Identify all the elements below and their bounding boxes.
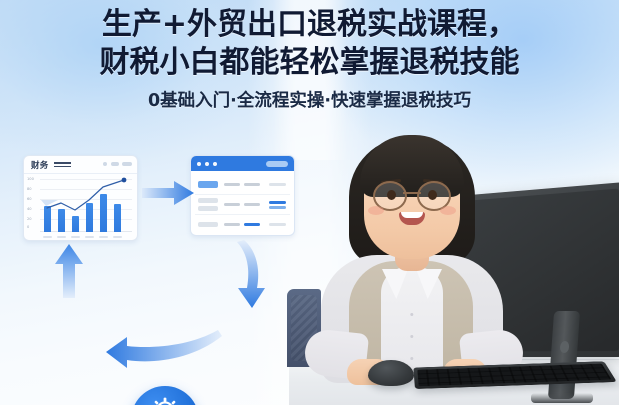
photo-scene [289, 92, 619, 405]
cheek-right [440, 206, 456, 215]
chart-card-header: 财务 [24, 156, 137, 174]
person-illustration [307, 98, 517, 383]
headline-line-1: 生产+外贸出口退税实战课程， [0, 8, 619, 42]
center-node-export-order[interactable]: 出口单 [131, 386, 199, 405]
arrow-up-icon [52, 242, 86, 300]
table-body [191, 171, 294, 235]
infographic: 财务 100 80 60 40 20 0 [0, 142, 318, 405]
chart-card: 财务 100 80 60 40 20 0 [23, 155, 138, 241]
shirt-button [410, 357, 413, 360]
equals-lines-icon [54, 162, 71, 164]
window-dot-icon [197, 162, 201, 166]
chart-plot-area: 100 80 60 40 20 0 [24, 173, 137, 240]
collar-right [416, 269, 442, 299]
table-row [195, 175, 290, 195]
search-pill-icon [266, 161, 288, 167]
keyboard-keys [417, 364, 611, 387]
poster-root: 生产+外贸出口退税实战课程， 财税小白都能轻松掌握退税技能 0基础入门·全流程实… [0, 0, 619, 405]
cell-chip [198, 181, 218, 188]
glasses-bridge [403, 192, 421, 194]
headline-block: 生产+外贸出口退税实战课程， 财税小白都能轻松掌握退税技能 0基础入门·全流程实… [0, 8, 619, 112]
eye-right [428, 190, 437, 200]
area-wedge [24, 173, 137, 240]
table-card [190, 155, 295, 236]
eye-left [387, 190, 396, 200]
glasses-icon [371, 181, 453, 207]
header-pill-icon [111, 162, 119, 166]
chart-card-title: 财务 [31, 159, 49, 171]
shirt-button [410, 313, 413, 316]
headline-line-2: 财税小白都能轻松掌握退税技能 [0, 46, 619, 80]
header-pill-icon [122, 162, 132, 166]
window-dot-icon [205, 162, 209, 166]
shirt-button [410, 335, 413, 338]
monitor-foot [531, 393, 593, 403]
cheek-left [368, 206, 384, 215]
subtitle: 0基础入门·全流程实操·快速掌握退税技巧 [0, 90, 619, 112]
collar-left [382, 269, 408, 299]
window-dot-icon [213, 162, 217, 166]
table-row [195, 195, 290, 215]
arrow-down-icon [228, 238, 288, 310]
arrow-left-icon [100, 330, 225, 370]
arrow-right-icon [140, 178, 198, 208]
gear-target-icon [152, 397, 178, 405]
table-row [195, 215, 290, 234]
equals-lines-icon [54, 166, 71, 168]
header-dot-icon [103, 162, 107, 166]
computer-mouse [368, 360, 414, 386]
table-card-titlebar [191, 156, 294, 171]
